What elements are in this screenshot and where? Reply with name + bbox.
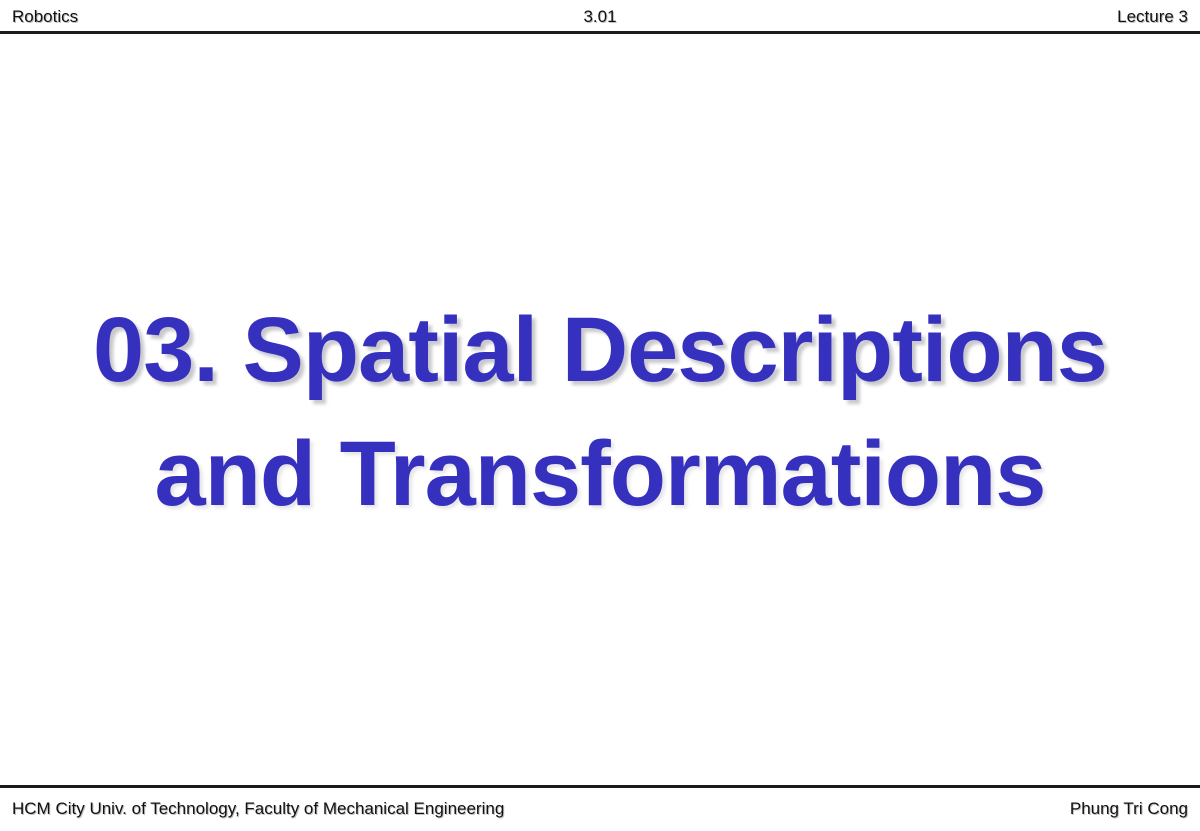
header-slide-number: 3.01 <box>0 7 1200 27</box>
footer-institution-label: HCM City Univ. of Technology, Faculty of… <box>12 799 504 819</box>
slide-canvas: Robotics 3.01 Lecture 3 03. Spatial Desc… <box>0 0 1200 831</box>
header-divider-rule <box>0 31 1200 34</box>
title-line-1: 03. Spatial Descriptions <box>0 288 1200 412</box>
header-lecture-label: Lecture 3 <box>1117 7 1188 27</box>
slide-title: 03. Spatial Descriptions and Transformat… <box>0 288 1200 536</box>
title-line-2: and Transformations <box>0 412 1200 536</box>
footer-author-label: Phung Tri Cong <box>1070 799 1188 819</box>
slide-header: Robotics 3.01 Lecture 3 <box>0 0 1200 33</box>
slide-footer: HCM City Univ. of Technology, Faculty of… <box>0 785 1200 831</box>
